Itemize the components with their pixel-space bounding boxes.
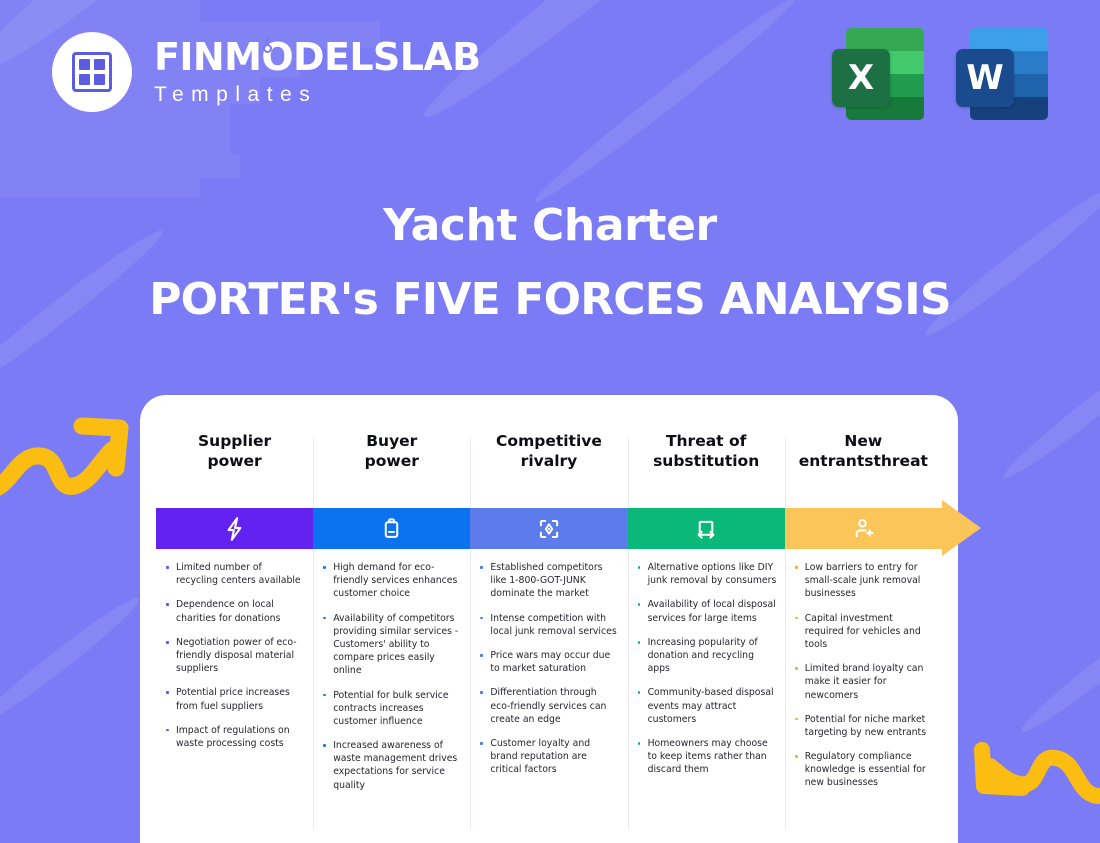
brush-stroke-decoration: [1015, 601, 1100, 740]
five-forces-table: Supplier power Limited number of recycli…: [156, 395, 942, 835]
list-item: High demand for eco-friendly services en…: [317, 561, 462, 601]
column-body: High demand for eco-friendly services en…: [313, 549, 470, 803]
column-header: Threat of substitution: [628, 395, 785, 508]
list-item: Intense competition with local junk remo…: [474, 612, 619, 638]
column-header: New entrantsthreat: [785, 395, 942, 508]
column-header: Supplier power: [156, 395, 313, 508]
excel-file-icon: X: [832, 28, 924, 120]
list-item: Availability of local disposal services …: [632, 598, 777, 624]
brush-stroke-decoration: [0, 154, 240, 178]
grid-squares-icon: [72, 52, 112, 92]
list-item: Capital investment required for vehicles…: [789, 612, 934, 652]
column-body: Established competitors like 1-800-GOT-J…: [470, 549, 627, 787]
list-item: Community-based disposal events may attr…: [632, 686, 777, 726]
word-icon-letter: W: [956, 49, 1014, 107]
list-item: Limited brand loyalty can make it easier…: [789, 662, 934, 702]
column-header: Competitive rivalry: [470, 395, 627, 508]
column-header-label: Competitive rivalry: [496, 432, 602, 472]
bullet-list: Alternative options like DIY junk remova…: [632, 561, 777, 776]
brand-name-text: FINMODELSLAB: [154, 35, 481, 79]
column-body: Limited number of recycling centers avai…: [156, 549, 313, 761]
exchange-arrows-icon: [693, 516, 719, 542]
target-focus-icon: [536, 516, 562, 542]
band-arrow-head: [942, 500, 981, 556]
bullet-list: Limited number of recycling centers avai…: [160, 561, 305, 750]
force-column-new-entrants-threat: New entrantsthreat Low barriers to entry…: [785, 395, 942, 835]
list-item: Impact of regulations on waste processin…: [160, 724, 305, 750]
five-forces-card: Supplier power Limited number of recycli…: [140, 395, 958, 843]
column-icon-band: [470, 508, 627, 549]
page-subtitle: PORTER's FIVE FORCES ANALYSIS: [0, 274, 1100, 325]
logo-badge: [52, 32, 132, 112]
list-item: Homeowners may choose to keep items rath…: [632, 737, 777, 777]
list-item: Availability of competitors providing si…: [317, 612, 462, 678]
column-icon-band: [785, 508, 942, 549]
force-column-supplier-power: Supplier power Limited number of recycli…: [156, 395, 313, 835]
column-body: Alternative options like DIY junk remova…: [628, 549, 785, 787]
brush-stroke-decoration: [529, 0, 801, 209]
brand-logo: FINMODELSLAB Templates: [52, 32, 481, 112]
brand-wordmark: FINMODELSLAB Templates: [154, 38, 481, 107]
bullet-list: High demand for eco-friendly services en…: [317, 561, 462, 792]
bullet-list: Low barriers to entry for small-scale ju…: [789, 561, 934, 790]
column-header-label: Supplier power: [198, 432, 271, 472]
brush-stroke-decoration: [0, 0, 200, 22]
logo-o-tick-detail: [266, 38, 269, 46]
column-icon-band: [156, 508, 313, 549]
list-item: Potential for bulk service contracts inc…: [317, 689, 462, 729]
brand-name: FINMODELSLAB: [154, 38, 481, 76]
list-item: Potential price increases from fuel supp…: [160, 686, 305, 712]
word-file-icon: W: [956, 28, 1048, 120]
list-item: Increased awareness of waste management …: [317, 739, 462, 792]
bullet-list: Established competitors like 1-800-GOT-J…: [474, 561, 619, 776]
excel-icon-letter: X: [832, 49, 890, 107]
column-header-label: Threat of substitution: [653, 432, 759, 472]
brush-stroke-decoration: [0, 591, 145, 730]
force-column-buyer-power: Buyer power High demand for eco-friendly…: [313, 395, 470, 835]
brush-stroke-decoration: [0, 128, 230, 154]
force-column-competitive-rivalry: Competitive rivalry Established competit…: [470, 395, 627, 835]
column-icon-band: [313, 508, 470, 549]
squiggle-arrow-down-left-icon: [972, 742, 1100, 843]
lightning-bolt-icon: [222, 516, 248, 542]
list-item: Negotiation power of eco-friendly dispos…: [160, 636, 305, 676]
file-format-badges: X W: [832, 28, 1048, 120]
page-title: Yacht Charter: [0, 200, 1100, 251]
briefcase-icon: [379, 516, 404, 541]
force-column-threat-of-substitution: Threat of substitution Alternative optio…: [628, 395, 785, 835]
column-icon-band: [628, 508, 785, 549]
brush-stroke-decoration: [997, 334, 1100, 485]
list-item: Alternative options like DIY junk remova…: [632, 561, 777, 587]
column-header-label: Buyer power: [365, 432, 419, 472]
brush-stroke-decoration: [0, 178, 200, 198]
list-item: Increasing popularity of donation and re…: [632, 636, 777, 676]
squiggle-arrow-up-right-icon: [0, 398, 132, 507]
list-item: Dependence on local charities for donati…: [160, 598, 305, 624]
column-header-label: New entrantsthreat: [799, 432, 928, 472]
list-item: Customer loyalty and brand reputation ar…: [474, 737, 619, 777]
column-body: Low barriers to entry for small-scale ju…: [785, 549, 942, 801]
list-item: Regulatory compliance knowledge is essen…: [789, 750, 934, 790]
list-item: Differentiation through eco-friendly ser…: [474, 686, 619, 726]
add-user-icon: [851, 516, 876, 541]
poster-canvas: FINMODELSLAB Templates X W Yacht Charter…: [0, 0, 1100, 843]
brand-tagline: Templates: [154, 83, 481, 107]
column-header: Buyer power: [313, 395, 470, 508]
list-item: Price wars may occur due to market satur…: [474, 649, 619, 675]
list-item: Established competitors like 1-800-GOT-J…: [474, 561, 619, 601]
list-item: Limited number of recycling centers avai…: [160, 561, 305, 587]
list-item: Low barriers to entry for small-scale ju…: [789, 561, 934, 601]
list-item: Potential for niche market targeting by …: [789, 713, 934, 739]
